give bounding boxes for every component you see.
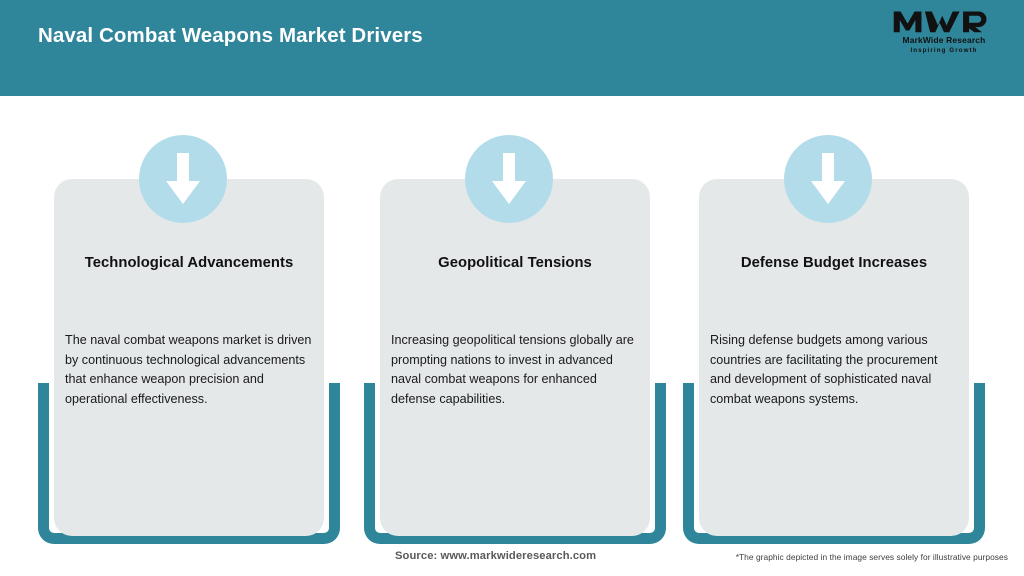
mwr-logotype-icon xyxy=(892,8,996,34)
source-label: Source: www.markwideresearch.com xyxy=(395,550,596,562)
card-title: Technological Advancements xyxy=(54,255,324,271)
card-description: Increasing geopolitical tensions globall… xyxy=(391,331,643,409)
driver-card[interactable]: Defense Budget Increases Rising defense … xyxy=(683,96,985,544)
down-arrow-glyph-icon xyxy=(809,151,847,207)
driver-card[interactable]: Technological Advancements The naval com… xyxy=(38,96,340,544)
down-arrow-icon xyxy=(139,135,227,223)
down-arrow-glyph-icon xyxy=(164,151,202,207)
logo-company-name: MarkWide Research xyxy=(882,35,1006,46)
card-description: The naval combat weapons market is drive… xyxy=(65,331,317,409)
logo-tagline: Inspiring Growth xyxy=(882,46,1006,55)
drivers-card-group: Technological Advancements The naval com… xyxy=(0,96,1024,544)
card-title: Defense Budget Increases xyxy=(699,255,969,271)
header-bar: Naval Combat Weapons Market Drivers Mark… xyxy=(0,0,1024,96)
brand-logo: MarkWide Research Inspiring Growth xyxy=(882,8,1006,64)
page-title: Naval Combat Weapons Market Drivers xyxy=(38,24,423,48)
card-description: Rising defense budgets among various cou… xyxy=(710,331,962,409)
card-panel: Technological Advancements The naval com… xyxy=(54,179,324,536)
card-panel: Defense Budget Increases Rising defense … xyxy=(699,179,969,536)
card-panel: Geopolitical Tensions Increasing geopoli… xyxy=(380,179,650,536)
card-title: Geopolitical Tensions xyxy=(380,255,650,271)
down-arrow-icon xyxy=(465,135,553,223)
footer-bar: Source: www.markwideresearch.com *The gr… xyxy=(0,544,1024,576)
down-arrow-icon xyxy=(784,135,872,223)
driver-card[interactable]: Geopolitical Tensions Increasing geopoli… xyxy=(364,96,666,544)
down-arrow-glyph-icon xyxy=(490,151,528,207)
disclaimer-label: *The graphic depicted in the image serve… xyxy=(736,552,1008,562)
